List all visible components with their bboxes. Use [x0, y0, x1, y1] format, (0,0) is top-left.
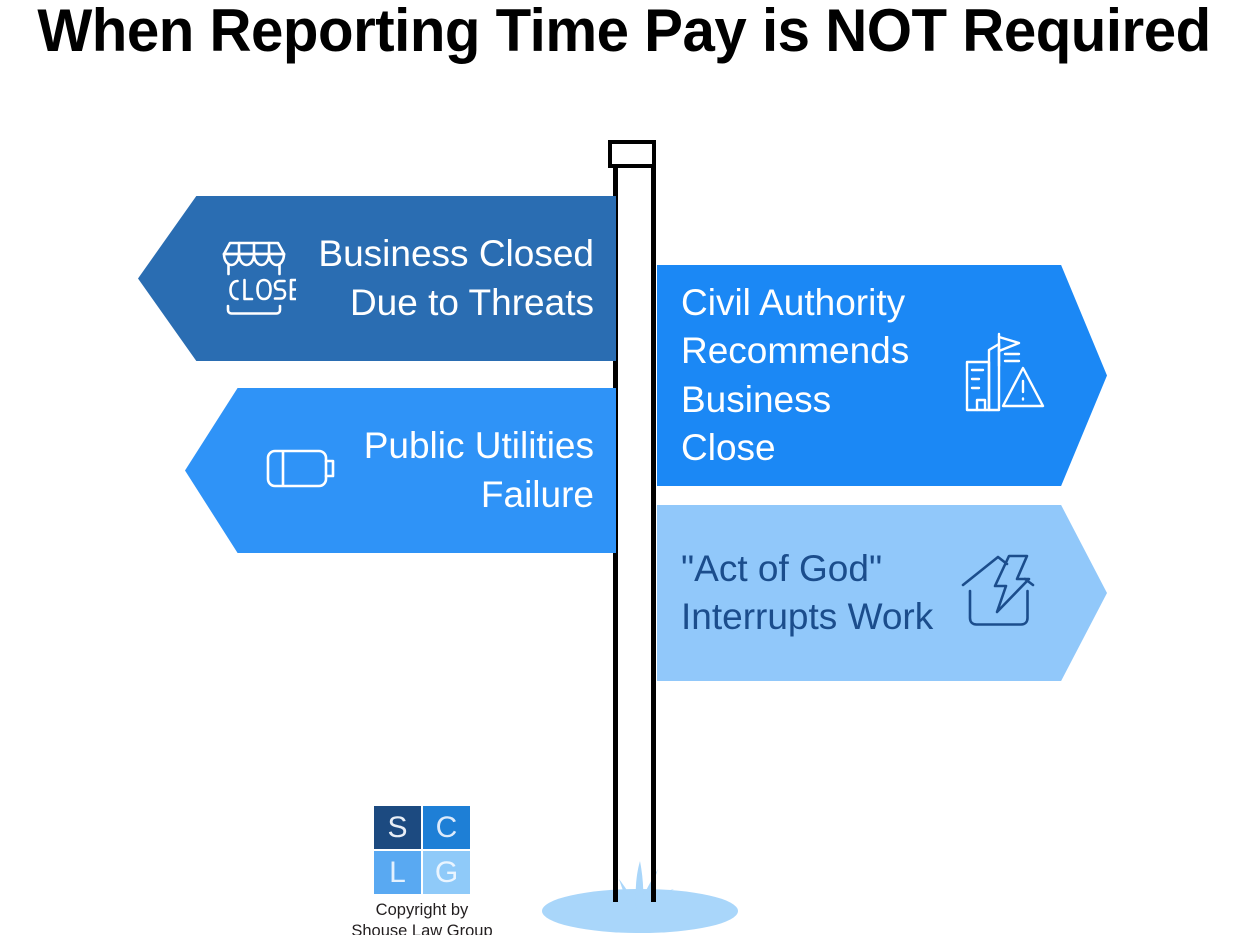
sign-act-of-god[interactable]: "Act of God" Interrupts Work — [657, 505, 1107, 681]
page-title: When Reporting Time Pay is NOT Required — [19, 0, 1230, 65]
sign-act-of-god-label: "Act of God" Interrupts Work — [681, 545, 933, 642]
sign-business-closed-label: Business Closed Due to Threats — [318, 230, 594, 327]
battery-low-svg — [264, 438, 342, 498]
sign-business-closed[interactable]: Business Closed Due to Threats — [138, 196, 616, 361]
sign-public-utilities-label: Public Utilities Failure — [364, 422, 594, 519]
sign-post-rail-right — [651, 164, 656, 902]
government-building-warning-svg — [961, 330, 1047, 416]
sign-civil-authority[interactable]: Civil Authority Recommends Business Clos… — [657, 265, 1107, 486]
logo-block: S C L G Copyright by Shouse Law Group — [347, 806, 497, 935]
storefront-closed-svg — [212, 234, 296, 318]
storefront-closed-icon — [212, 234, 296, 323]
house-lightning-svg — [959, 552, 1041, 630]
government-building-warning-icon — [961, 330, 1047, 421]
copyright-caption: Copyright by Shouse Law Group — [347, 900, 497, 935]
infographic-canvas: When Reporting Time Pay is NOT Required — [0, 0, 1248, 935]
house-lightning-icon — [959, 552, 1041, 635]
logo-cell-g: G — [423, 851, 470, 894]
logo-cell-s: S — [374, 806, 421, 849]
sign-post-cap — [608, 140, 656, 168]
battery-low-icon — [264, 438, 342, 503]
logo-cell-c: C — [423, 806, 470, 849]
sclg-logo: S C L G — [374, 806, 470, 894]
sign-civil-authority-label: Civil Authority Recommends Business Clos… — [681, 279, 935, 473]
sign-public-utilities[interactable]: Public Utilities Failure — [185, 388, 616, 553]
logo-cell-l: L — [374, 851, 421, 894]
